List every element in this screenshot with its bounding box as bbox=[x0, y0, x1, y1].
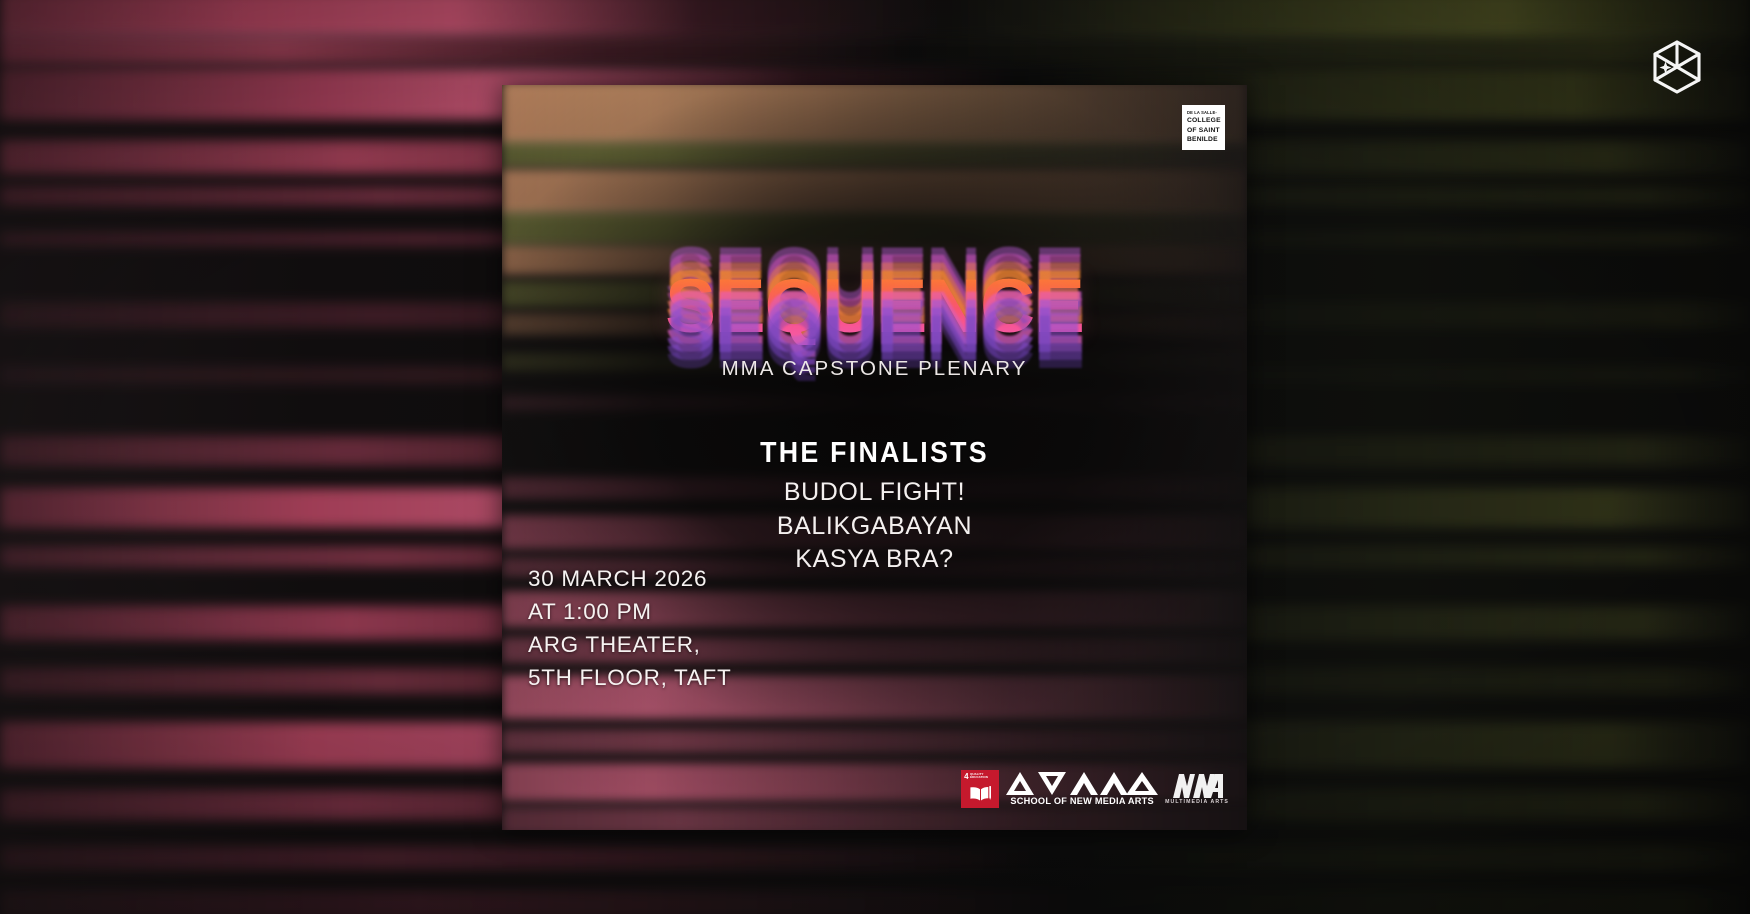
triangle-marks-icon bbox=[1006, 772, 1158, 795]
poster-canvas: DE LA SALLE- COLLEGE OF SAINT BENILDE SE… bbox=[0, 0, 1750, 914]
streak bbox=[0, 34, 1750, 64]
poster-subtitle: MMA CAPSTONE PLENARY bbox=[502, 357, 1247, 381]
event-time: AT 1:00 PM bbox=[528, 596, 731, 629]
streak bbox=[0, 890, 1750, 914]
csb-logo-line4: BENILDE bbox=[1187, 135, 1221, 145]
open-book-pencil-icon bbox=[964, 781, 996, 808]
mma-caption: MULTIMEDIA ARTS bbox=[1165, 799, 1229, 805]
poster-streak bbox=[502, 729, 1247, 753]
event-poster: DE LA SALLE- COLLEGE OF SAINT BENILDE SE… bbox=[502, 85, 1247, 830]
poster-streak bbox=[502, 807, 1247, 830]
sdg-caption: QUALITY EDUCATION bbox=[970, 773, 988, 780]
poster-title: SEQUENCE SEQUENCE SEQUENCE SEQUENCE SEQU… bbox=[502, 235, 1247, 355]
streak bbox=[0, 0, 1750, 36]
finalist-entry: BUDOL FIGHT! bbox=[502, 476, 1247, 510]
streak bbox=[0, 846, 1750, 870]
poster-streak bbox=[502, 395, 1247, 411]
event-venue-line2: 5TH FLOOR, TAFT bbox=[528, 662, 731, 695]
finalists-section: THE FINALISTS BUDOL FIGHT! BALIKGABAYAN … bbox=[502, 437, 1247, 577]
sdg-caption-line2: EDUCATION bbox=[970, 776, 988, 779]
mma-program-logo: MULTIMEDIA ARTS bbox=[1165, 774, 1229, 805]
event-venue-line1: ARG THEATER, bbox=[528, 629, 731, 662]
csb-logo-line2: COLLEGE bbox=[1187, 116, 1221, 126]
title-echo-stack: SEQUENCE SEQUENCE SEQUENCE SEQUENCE SEQU… bbox=[502, 235, 1247, 355]
poster-streak bbox=[502, 169, 1247, 213]
sdg-badge-header: 4 QUALITY EDUCATION bbox=[964, 773, 996, 781]
finalist-entry: BALIKGABAYAN bbox=[502, 510, 1247, 544]
mma-mark-icon bbox=[1171, 774, 1223, 798]
sdg-number: 4 bbox=[964, 773, 968, 781]
cube-star-watermark bbox=[1649, 38, 1705, 96]
finalists-heading: THE FINALISTS bbox=[524, 437, 1224, 470]
poster-streak bbox=[502, 141, 1247, 167]
csb-logo-line3: OF SAINT bbox=[1187, 126, 1221, 136]
dlsu-csb-logo: DE LA SALLE- COLLEGE OF SAINT BENILDE bbox=[1182, 105, 1225, 150]
sdg-4-badge: 4 QUALITY EDUCATION bbox=[961, 770, 999, 808]
poster-streak bbox=[502, 85, 1247, 143]
footer-logo-row: 4 QUALITY EDUCATION bbox=[961, 770, 1229, 808]
event-details: 30 MARCH 2026 AT 1:00 PM ARG THEATER, 5T… bbox=[528, 563, 731, 694]
event-date: 30 MARCH 2026 bbox=[528, 563, 731, 596]
school-of-new-media-arts-logo: SCHOOL OF NEW MEDIA ARTS bbox=[1006, 772, 1158, 806]
school-caption: SCHOOL OF NEW MEDIA ARTS bbox=[1010, 796, 1153, 806]
